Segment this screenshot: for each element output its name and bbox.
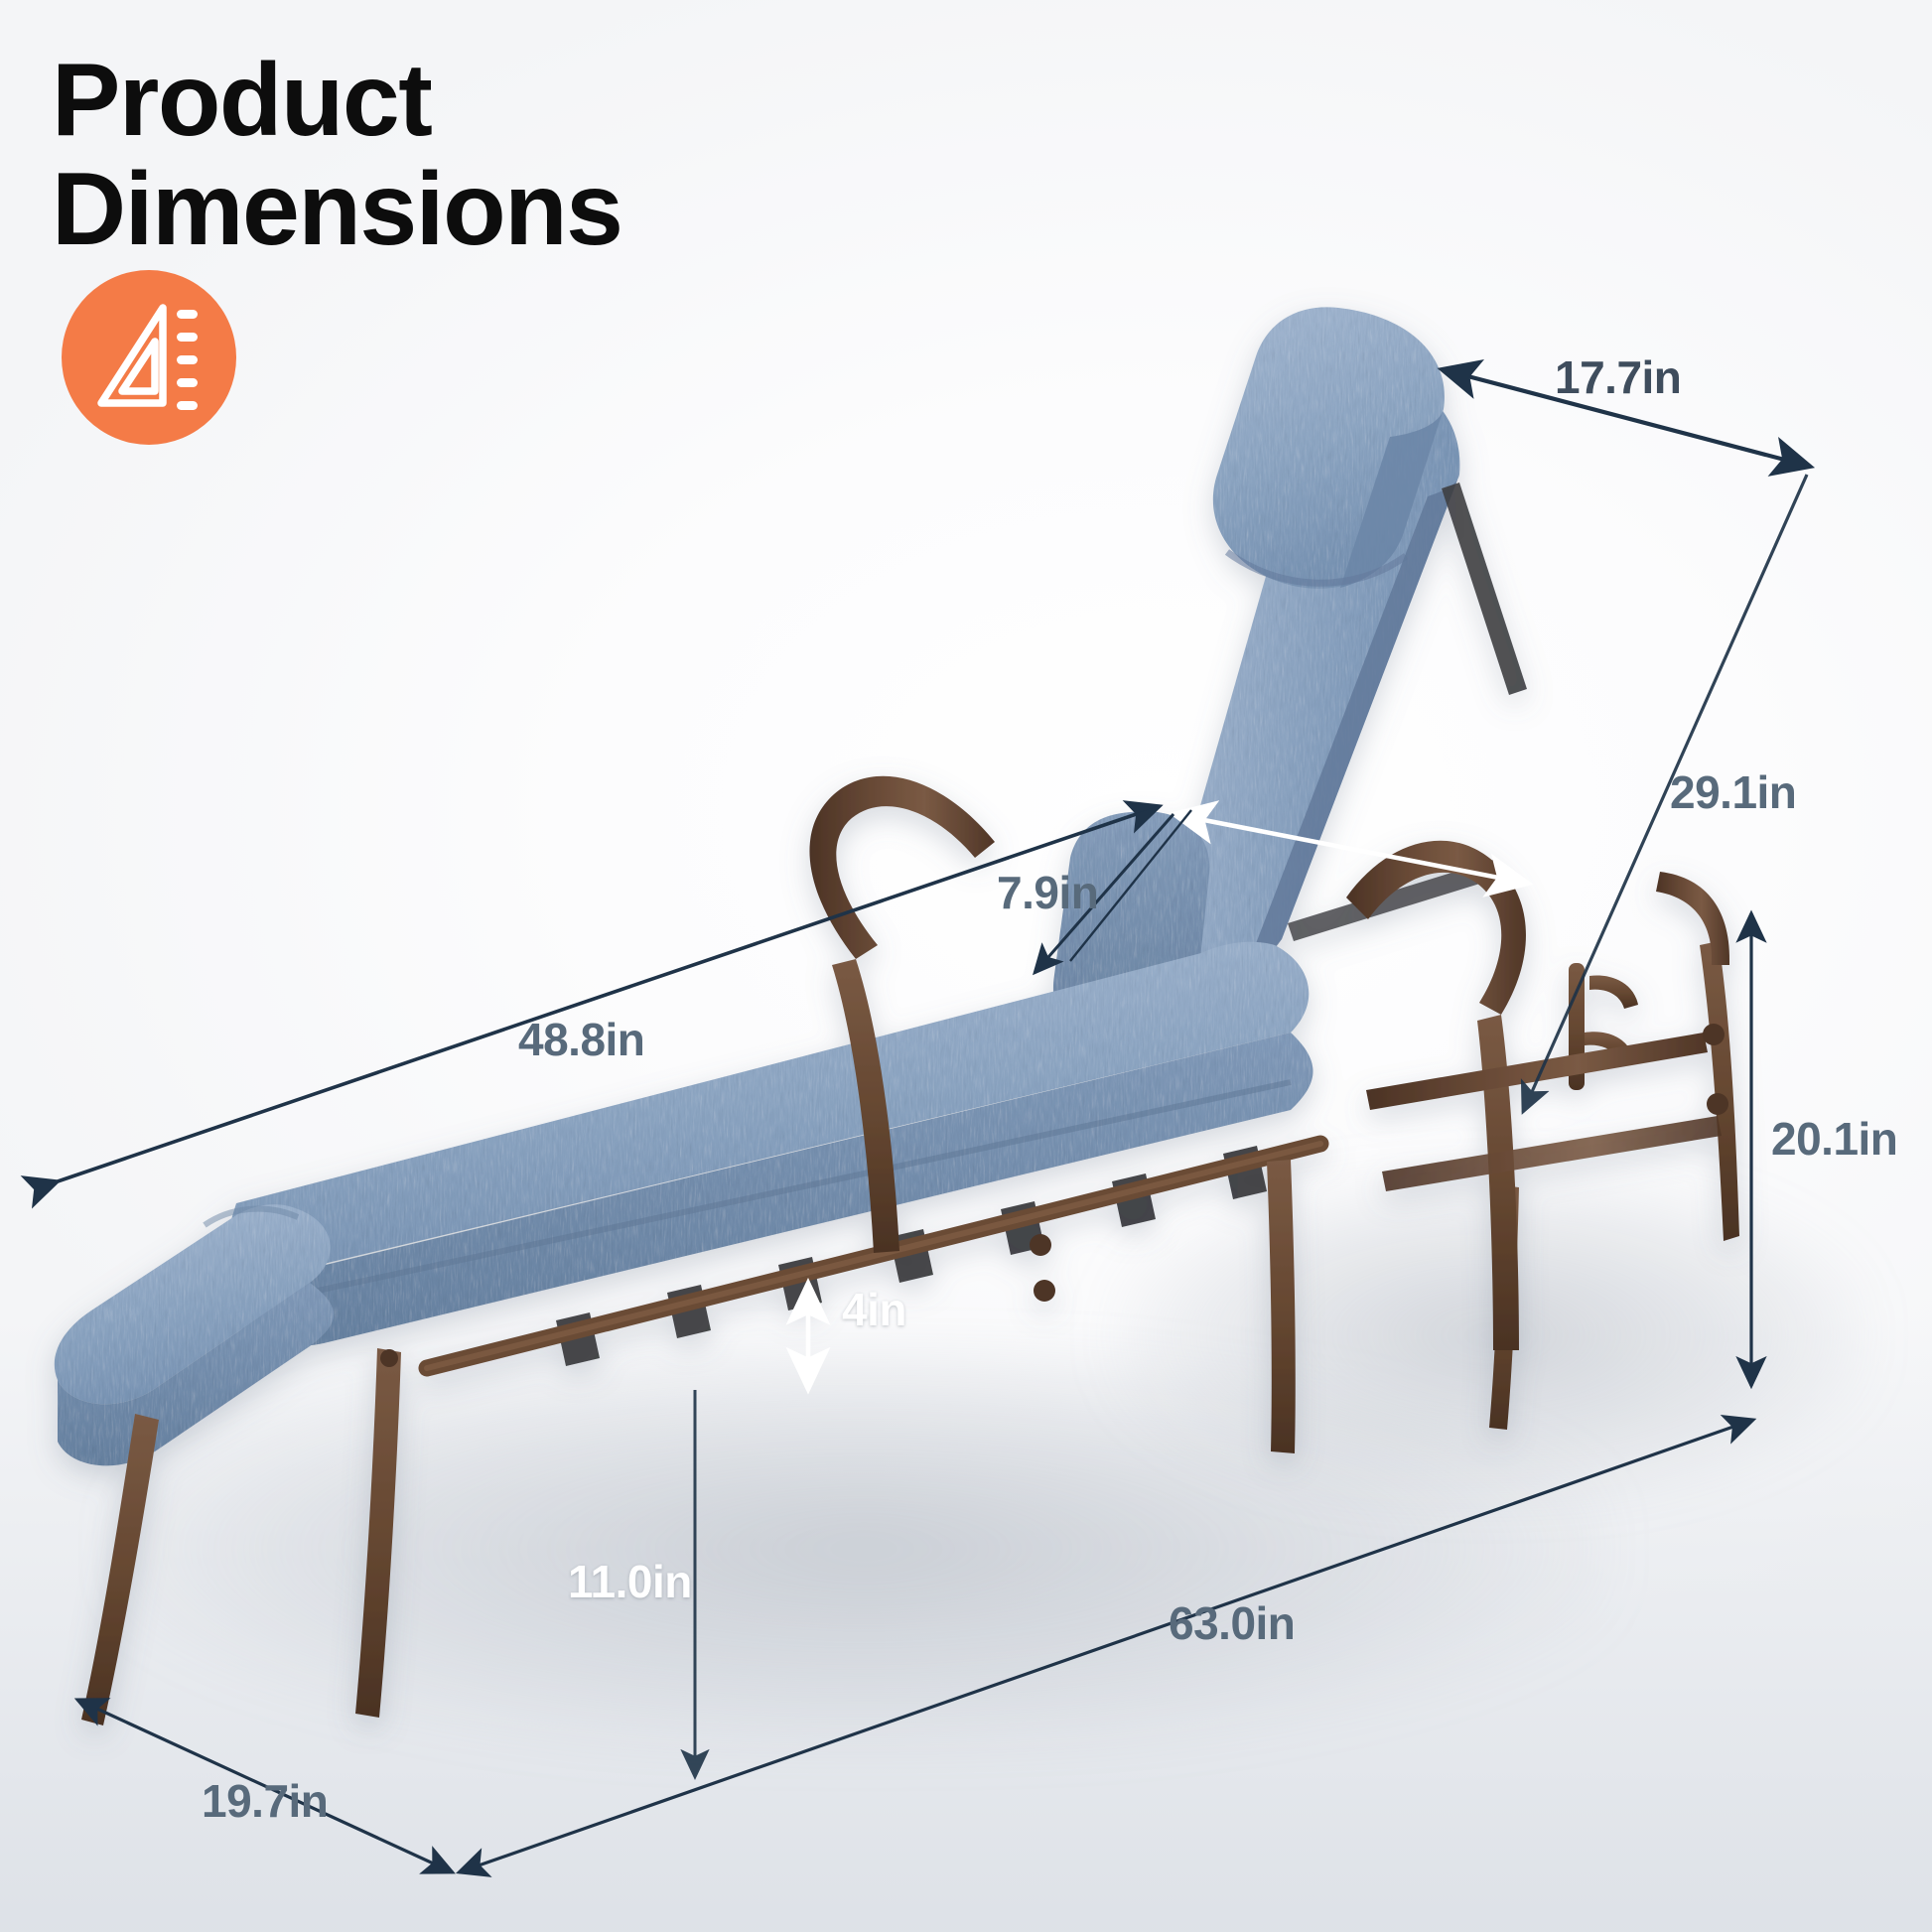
dim-line-seat-length <box>58 806 1160 1181</box>
dim-label-total-length: 63.0in <box>1169 1596 1295 1650</box>
chair-cast-shadow <box>119 1350 1608 1747</box>
page-title: Product Dimensions <box>52 46 621 264</box>
dimension-arrow-layer <box>0 0 1932 1932</box>
dim-label-depth: 19.7in <box>202 1774 328 1828</box>
dim-label-backrest-height: 29.1in <box>1670 765 1796 819</box>
chair-cast-shadow-rear <box>1112 1172 1866 1499</box>
chaise-lounge-illustration <box>0 0 1932 1932</box>
dim-label-backrest-width: 17.7in <box>1555 350 1681 404</box>
ruler-triangle-icon <box>62 270 236 445</box>
product-dimensions-infographic: Product Dimensions <box>0 0 1932 1932</box>
dim-label-seat-length: 48.8in <box>518 1013 644 1066</box>
dim-label-cushion-thickness: 4in <box>842 1283 906 1336</box>
dim-line-seat-length-alt <box>60 806 1158 1179</box>
floor-gradient <box>0 1316 1932 1932</box>
dim-label-seat-height: 20.1in <box>1771 1112 1897 1166</box>
dim-line-total-length <box>459 1420 1753 1872</box>
dim-label-pillow-width: 7.9in <box>997 866 1098 919</box>
dim-line-pillow-width <box>1035 810 1529 973</box>
dim-label-leg-height: 11.0in <box>568 1555 692 1608</box>
